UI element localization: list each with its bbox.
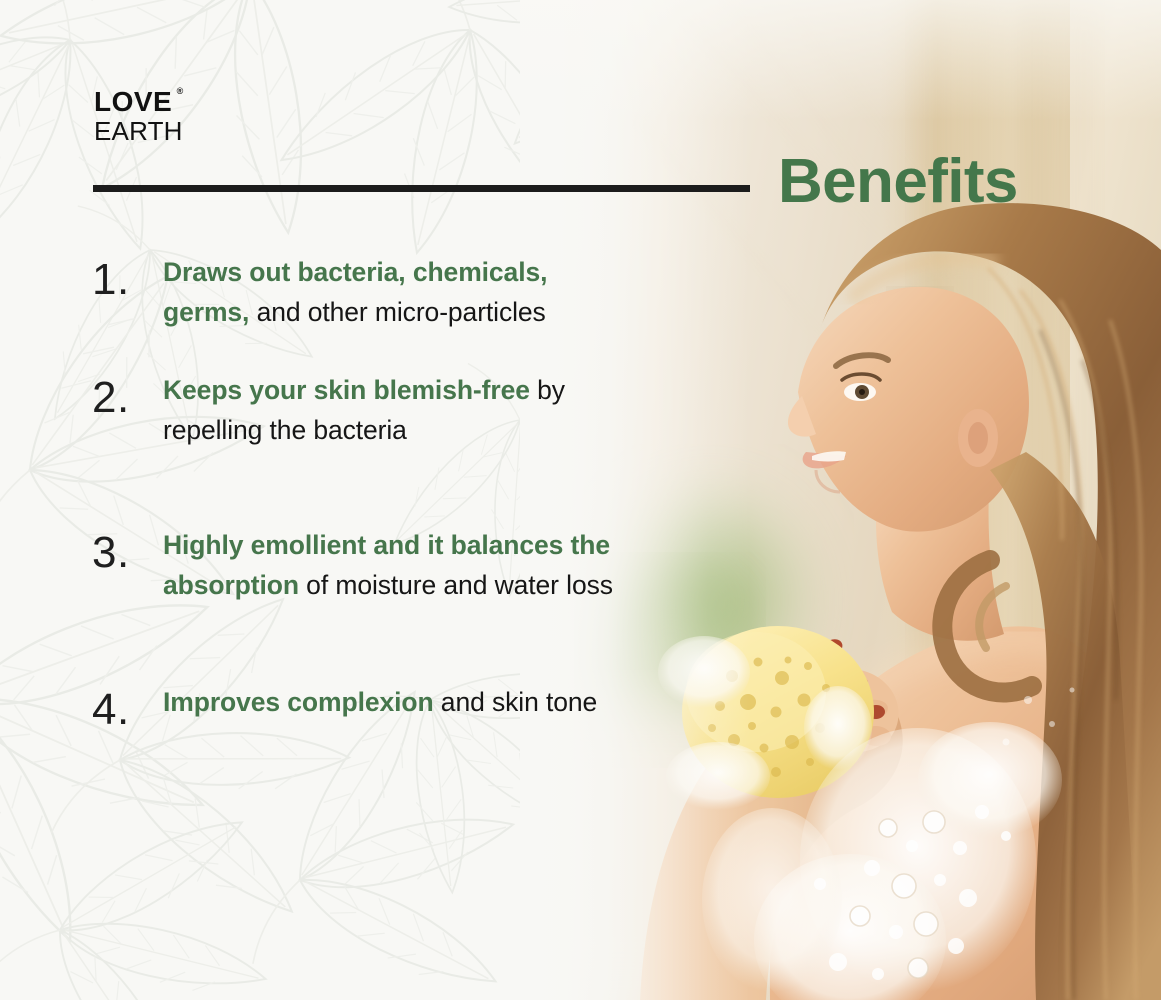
list-item-text: Highly emollient and it balances the abs…	[163, 525, 632, 605]
list-item-text: Keeps your skin blemish-free by repellin…	[163, 370, 632, 450]
list-item-text: Draws out bacteria, chemicals, germs, an…	[163, 252, 632, 332]
list-item-rest: of moisture and water loss	[299, 570, 613, 600]
benefits-list: 1. Draws out bacteria, chemicals, germs,…	[92, 252, 632, 782]
list-item: 2. Keeps your skin blemish-free by repel…	[92, 370, 632, 525]
brand-name-earth: EARTH	[94, 118, 183, 144]
list-item: 1. Draws out bacteria, chemicals, germs,…	[92, 252, 632, 370]
list-item-text: Improves complexion and skin tone	[163, 682, 632, 722]
benefits-graphic: LOVE ® EARTH Benefits 1. Draws out bacte…	[0, 0, 1161, 1000]
header-divider-rule	[93, 185, 750, 192]
registered-trademark-icon: ®	[177, 87, 184, 96]
content-layer: LOVE ® EARTH Benefits 1. Draws out bacte…	[0, 0, 1161, 1000]
brand-love-text: LOVE	[94, 86, 172, 117]
list-item: 4. Improves complexion and skin tone	[92, 682, 632, 782]
list-item-number: 3.	[92, 525, 163, 575]
brand-name-love: LOVE ®	[94, 88, 172, 116]
brand-logo: LOVE ® EARTH	[94, 88, 183, 144]
list-item-rest: and skin tone	[434, 687, 598, 717]
list-item-number: 4.	[92, 682, 163, 732]
list-item-rest: and other micro-particles	[249, 297, 545, 327]
list-item-highlight: Keeps your skin blemish-free	[163, 375, 530, 405]
page-title: Benefits	[778, 146, 1018, 217]
list-item-number: 2.	[92, 370, 163, 420]
list-item-highlight: Improves complexion	[163, 687, 434, 717]
list-item-number: 1.	[92, 252, 163, 302]
list-item: 3. Highly emollient and it balances the …	[92, 525, 632, 682]
